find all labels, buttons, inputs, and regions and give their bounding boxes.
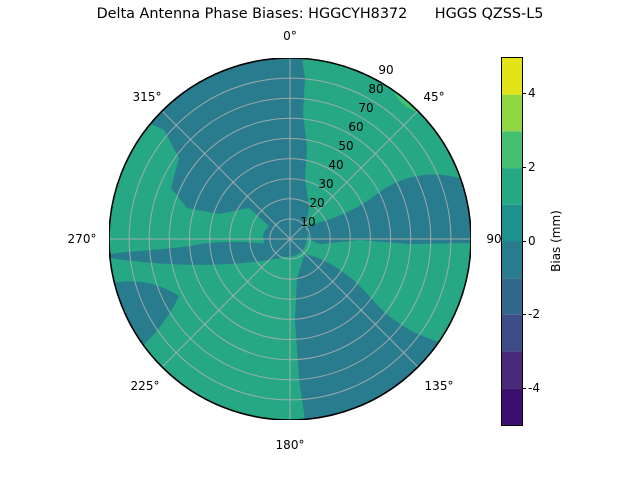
colorbar-tickmark-neg2 <box>522 314 526 315</box>
angular-tick-45: 45° <box>423 90 444 104</box>
angular-tick-315: 315° <box>133 90 162 104</box>
radial-tick-80: 80 <box>368 82 383 96</box>
colorbar-swatches <box>502 58 522 425</box>
colorbar-tickmark-neg4 <box>522 388 526 389</box>
colorbar-axis-label: Bias (mm) <box>549 210 563 272</box>
colorbar-band-6 <box>502 168 522 205</box>
radial-tick-10: 10 <box>300 215 315 229</box>
colorbar-band-4 <box>502 242 522 279</box>
colorbar-tickmark-4 <box>522 93 526 94</box>
colorbar-band-8 <box>502 95 522 132</box>
colorbar-tickmark-0 <box>522 241 526 242</box>
colorbar-ticklabel-neg2: -2 <box>528 307 540 321</box>
colorbar-band-1 <box>502 352 522 389</box>
radial-tick-90: 90 <box>378 63 393 77</box>
colorbar-band-5 <box>502 205 522 242</box>
colorbar-band-3 <box>502 278 522 315</box>
radial-tick-50: 50 <box>338 139 353 153</box>
radial-tick-60: 60 <box>348 120 363 134</box>
colorbar-ticklabel-4: 4 <box>528 86 536 100</box>
colorbar-band-0 <box>502 388 522 425</box>
radial-tick-70: 70 <box>358 101 373 115</box>
colorbar-tickmark-2 <box>522 167 526 168</box>
angular-tick-270: 270° <box>68 232 97 246</box>
colorbar-band-9 <box>502 58 522 95</box>
radial-tick-20: 20 <box>309 196 324 210</box>
colorbar[interactable] <box>501 57 523 426</box>
radial-tick-40: 40 <box>328 158 343 172</box>
colorbar-ticklabel-neg4: -4 <box>528 381 540 395</box>
polar-plot-axes[interactable]: 0° 45° 90° 135° 180° 225° 270° 315° 10 2… <box>109 58 471 420</box>
angular-tick-135: 135° <box>425 379 454 393</box>
angular-tick-180: 180° <box>276 438 305 452</box>
page-title: Delta Antenna Phase Biases: HGGCYH8372 H… <box>0 6 640 22</box>
angular-tick-0: 0° <box>283 29 297 43</box>
angular-gridlines <box>109 58 471 420</box>
colorbar-band-7 <box>502 131 522 168</box>
figure-canvas: Delta Antenna Phase Biases: HGGCYH8372 H… <box>0 0 640 480</box>
polar-plot-svg <box>109 58 471 420</box>
colorbar-ticklabel-0: 0 <box>528 234 536 248</box>
radial-tick-30: 30 <box>318 177 333 191</box>
colorbar-band-2 <box>502 315 522 352</box>
colorbar-ticklabel-2: 2 <box>528 160 536 174</box>
angular-tick-225: 225° <box>131 379 160 393</box>
